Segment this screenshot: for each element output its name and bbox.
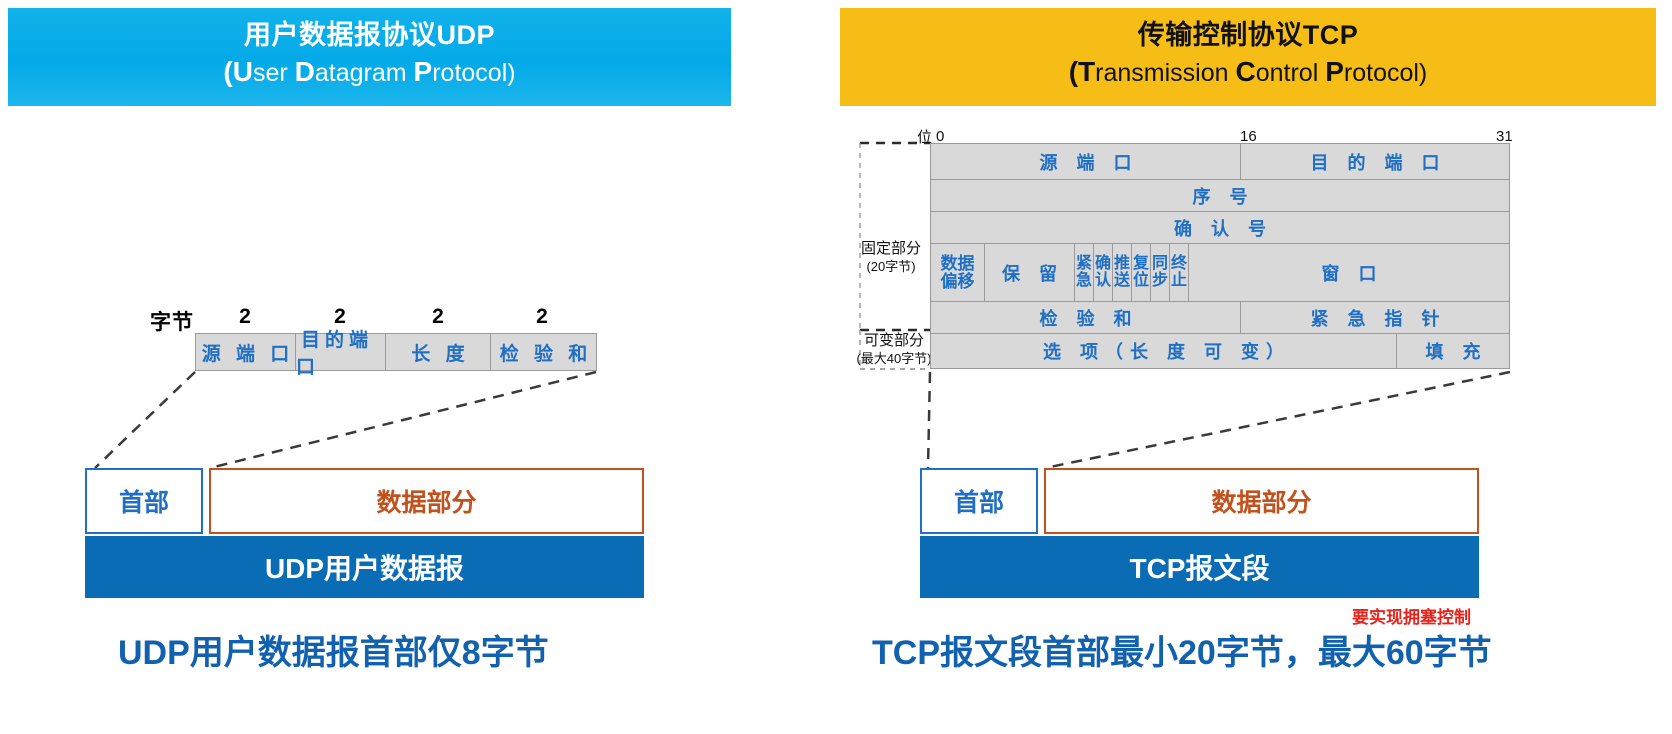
tcp-flag-urg: 紧 急 <box>1075 244 1094 301</box>
tcp-en-rest-2: rotocol) <box>1344 59 1427 87</box>
tcp-header-field-table: 源 端 口 目 的 端 口 序 号 确 认 号 数据 偏移 保 留 紧 急 确 … <box>930 143 1510 369</box>
tcp-variable-part-line2: (最大40字节) <box>852 351 936 367</box>
tcp-flag-psh-c1: 推 <box>1114 256 1130 272</box>
tcp-segment-data-box: 数据部分 <box>1044 468 1479 534</box>
tcp-segment-row: 首部 数据部分 <box>920 468 1479 534</box>
tcp-field-padding: 填 充 <box>1397 334 1509 368</box>
tcp-field-dst-port: 目 的 端 口 <box>1241 144 1509 179</box>
tcp-flag-ack-c2: 认 <box>1095 273 1111 289</box>
tcp-flag-psh: 推 送 <box>1113 244 1132 301</box>
tcp-segment-bar: TCP报文段 <box>920 536 1479 598</box>
tcp-field-data-offset: 数据 偏移 <box>931 244 985 301</box>
tcp-field-src-port: 源 端 口 <box>931 144 1241 179</box>
tcp-segment-header-box: 首部 <box>920 468 1038 534</box>
tcp-caption: TCP报文段首部最小20字节，最大60字节 <box>872 625 1492 674</box>
tcp-row-checksum: 检 验 和 紧 急 指 针 <box>931 302 1509 334</box>
tcp-variable-part-line1: 可变部分 <box>852 332 936 351</box>
tcp-en-cap-0: (T <box>1069 56 1095 87</box>
tcp-flag-fin: 终 止 <box>1170 244 1189 301</box>
tcp-field-window: 窗 口 <box>1189 244 1509 301</box>
tcp-field-options: 选 项（长 度 可 变） <box>931 334 1397 368</box>
tcp-flag-syn-c2: 步 <box>1152 273 1168 289</box>
tcp-field-urgent-pointer: 紧 急 指 针 <box>1241 302 1509 333</box>
tcp-row-options: 选 项（长 度 可 变） 填 充 <box>931 334 1509 368</box>
tcp-row-ack: 确 认 号 <box>931 212 1509 244</box>
tcp-data-offset-line1: 数据 <box>941 255 975 273</box>
tcp-panel: 传输控制协议TCP (Transmission Control Protocol… <box>0 0 1672 734</box>
tcp-field-reserved: 保 留 <box>985 244 1075 301</box>
tcp-en-rest-0: ransmission <box>1095 59 1235 87</box>
tcp-row-ports: 源 端 口 目 的 端 口 <box>931 144 1509 180</box>
tcp-flag-fin-c1: 终 <box>1171 256 1187 272</box>
tcp-banner: 传输控制协议TCP (Transmission Control Protocol… <box>840 8 1656 106</box>
tcp-flag-syn: 同 步 <box>1151 244 1170 301</box>
tcp-en-cap-1: C <box>1235 56 1255 87</box>
tcp-en-rest-1: ontrol <box>1256 59 1325 87</box>
tcp-banner-title-cn: 传输控制协议TCP <box>840 20 1656 52</box>
tcp-segment-diagram: 首部 数据部分 TCP报文段 <box>920 468 1479 598</box>
tcp-en-cap-2: P <box>1325 56 1344 87</box>
tcp-flag-fin-c2: 止 <box>1171 273 1187 289</box>
tcp-data-offset-line2: 偏移 <box>941 273 975 291</box>
tcp-flag-rst-c2: 位 <box>1133 273 1149 289</box>
tcp-fixed-part-line1: 固定部分 <box>852 240 930 259</box>
tcp-flag-urg-c2: 急 <box>1076 273 1092 289</box>
tcp-fixed-part-line2: (20字节) <box>852 259 930 275</box>
tcp-flag-psh-c2: 送 <box>1114 273 1130 289</box>
tcp-row-seq: 序 号 <box>931 180 1509 212</box>
tcp-flag-syn-c1: 同 <box>1152 256 1168 272</box>
tcp-flag-ack: 确 认 <box>1094 244 1113 301</box>
tcp-row-flags: 数据 偏移 保 留 紧 急 确 认 推 送 复 位 同 步 <box>931 244 1509 302</box>
tcp-field-sequence-number: 序 号 <box>931 180 1509 211</box>
tcp-fixed-part-label: 固定部分 (20字节) <box>852 240 930 275</box>
tcp-flag-rst: 复 位 <box>1132 244 1151 301</box>
tcp-field-checksum: 检 验 和 <box>931 302 1241 333</box>
tcp-flag-urg-c1: 紧 <box>1076 256 1092 272</box>
tcp-flag-ack-c1: 确 <box>1095 256 1111 272</box>
tcp-banner-title-en: (Transmission Control Protocol) <box>840 55 1656 89</box>
tcp-variable-part-label: 可变部分 (最大40字节) <box>852 332 936 367</box>
tcp-field-ack-number: 确 认 号 <box>931 212 1509 243</box>
tcp-flag-rst-c1: 复 <box>1133 256 1149 272</box>
